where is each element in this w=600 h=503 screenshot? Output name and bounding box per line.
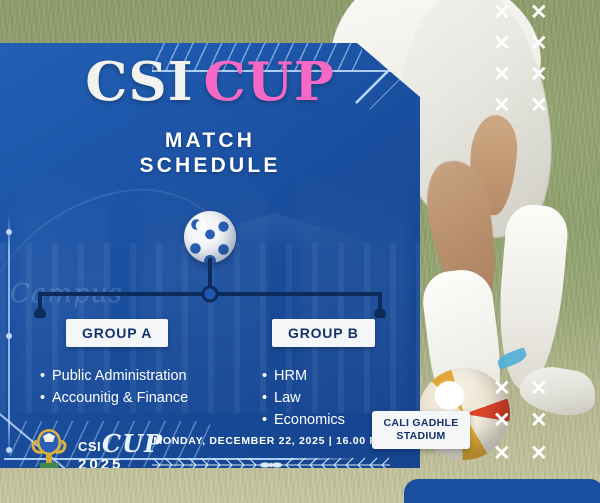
bracket-connector: [20, 258, 400, 318]
x-mark-icon: ✕: [493, 378, 511, 399]
list-item: •Law: [262, 387, 345, 409]
team-name: Economics: [274, 412, 345, 428]
x-mark-icon: ✕: [530, 2, 548, 23]
csi-cup-logo: CSI CUP 2025: [26, 427, 146, 468]
team-name: HRM: [274, 368, 307, 384]
title-csi: CSI: [85, 51, 193, 113]
group-b-label: GROUP B: [272, 319, 375, 347]
bullet-icon: •: [40, 387, 52, 409]
subtitle-line-1: MATCH: [0, 129, 420, 154]
x-mark-icon: ✕: [493, 33, 511, 54]
laurel-branch-divider-icon: [146, 451, 396, 468]
subtitle: MATCH SCHEDULE: [0, 129, 420, 179]
bullet-icon: •: [262, 409, 274, 431]
list-item: •Economics: [262, 409, 345, 431]
x-mark-icon: ✕: [493, 64, 511, 85]
x-mark-icon: ✕: [530, 443, 548, 464]
accent-dot-mid: [6, 333, 12, 339]
event-date-time: MONDAY, DECEMBER 22, 2025 | 16.00 PM: [150, 435, 390, 447]
x-mark-icon: ✕: [530, 33, 548, 54]
bottom-accent-bar: [404, 479, 600, 503]
venue-line-1: CALI GADHLE: [376, 417, 466, 430]
list-item: •Accounitig & Finance: [40, 387, 188, 409]
page-title: CSICUP: [0, 56, 420, 109]
x-mark-icon: ✕: [493, 443, 511, 464]
team-name: Accounitig & Finance: [52, 390, 188, 406]
x-mark-icon: ✕: [530, 378, 548, 399]
venue-badge: CALI GADHLE STADIUM: [372, 411, 470, 449]
team-name: Law: [274, 390, 301, 406]
title-cup: CUP: [203, 51, 334, 113]
group-b-team-list: •HRM •Law •Economics: [262, 365, 345, 431]
logo-csi-text: CSI: [78, 439, 101, 454]
group-a-team-list: •Public Administration •Accounitig & Fin…: [40, 365, 188, 409]
poster-card: Campus CSICUP MATCH SCHEDULE GROUP A GRO…: [0, 43, 420, 468]
accent-dot-top: [6, 229, 12, 235]
x-mark-icon: ✕: [530, 410, 548, 431]
list-item: •HRM: [262, 365, 345, 387]
group-a-label: GROUP A: [66, 319, 168, 347]
x-mark-icon: ✕: [530, 95, 548, 116]
x-mark-icon: ✕: [530, 64, 548, 85]
trophy-icon: [26, 427, 72, 468]
x-mark-icon: ✕: [493, 2, 511, 23]
bullet-icon: •: [262, 387, 274, 409]
list-item: •Public Administration: [40, 365, 188, 387]
accent-dot-bottom: [6, 447, 12, 453]
subtitle-line-2: SCHEDULE: [0, 154, 420, 179]
logo-year: 2025: [78, 456, 123, 468]
bullet-icon: •: [262, 365, 274, 387]
x-mark-icon: ✕: [493, 95, 511, 116]
venue-line-2: STADIUM: [376, 430, 466, 443]
x-mark-icon: ✕: [493, 410, 511, 431]
bullet-icon: •: [40, 365, 52, 387]
soccer-ball-icon: [184, 211, 236, 263]
team-name: Public Administration: [52, 368, 187, 384]
